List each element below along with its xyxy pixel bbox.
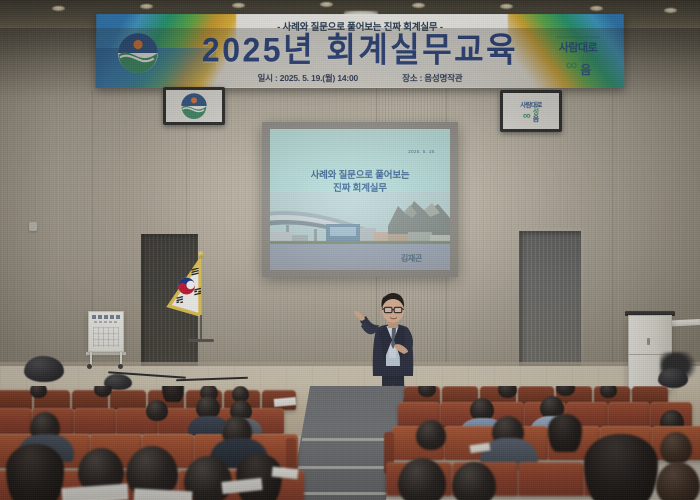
attendee-head: [600, 386, 617, 398]
easel-wheel: [118, 364, 123, 369]
easel-wheel: [87, 364, 92, 369]
aisle-step-edge: [302, 438, 395, 441]
equipment-bag: [24, 356, 64, 382]
ceiling-downlight: [232, 3, 245, 8]
attendee-head: [30, 386, 47, 398]
ceiling-downlight: [412, 3, 425, 8]
seat: [608, 402, 650, 428]
flag-stand-base: [188, 339, 214, 342]
ceiling-downlight: [52, 6, 65, 11]
equipment-bag: [658, 368, 688, 388]
easel-sign-subtitle-text: [94, 321, 118, 323]
seat: [110, 390, 146, 410]
attendee-head: [660, 432, 692, 464]
attendee-head: [416, 420, 446, 450]
ceiling-downlight: [590, 6, 603, 11]
attendee-head: [548, 414, 582, 452]
seat: [74, 408, 116, 434]
seat: [0, 390, 32, 410]
seat: [518, 462, 584, 496]
korean-flag-stand: [166, 253, 214, 345]
flag-stand-rod: [200, 315, 202, 341]
ceiling-downlight: [320, 2, 333, 7]
easel-board: [88, 311, 124, 352]
handout-text-lines: [64, 486, 127, 500]
cabinet-handle: [647, 338, 650, 345]
easel-sign-table: [93, 327, 119, 347]
lecture-hall-photo: - 사례와 질문으로 풀어보는 진짜 회계실무 - 2025년 회계실무교육 일…: [0, 0, 700, 500]
attendee-head: [584, 434, 658, 500]
handout-text-lines: [224, 480, 261, 492]
attendee-head: [162, 386, 184, 402]
easel-sign-title-text: [92, 315, 120, 319]
seat: [0, 408, 32, 434]
taegukgi-flag-icon: [166, 259, 210, 325]
attendee-head: [6, 444, 64, 500]
ceiling-downlight: [140, 4, 153, 9]
attendee-head: [656, 462, 700, 500]
audience-area: [0, 386, 700, 500]
handout-text-lines: [136, 491, 190, 500]
ceiling-downlight: [664, 8, 677, 13]
attendee-head: [146, 400, 168, 421]
handout-document: [134, 488, 193, 500]
ceiling-downlight: [500, 4, 513, 9]
